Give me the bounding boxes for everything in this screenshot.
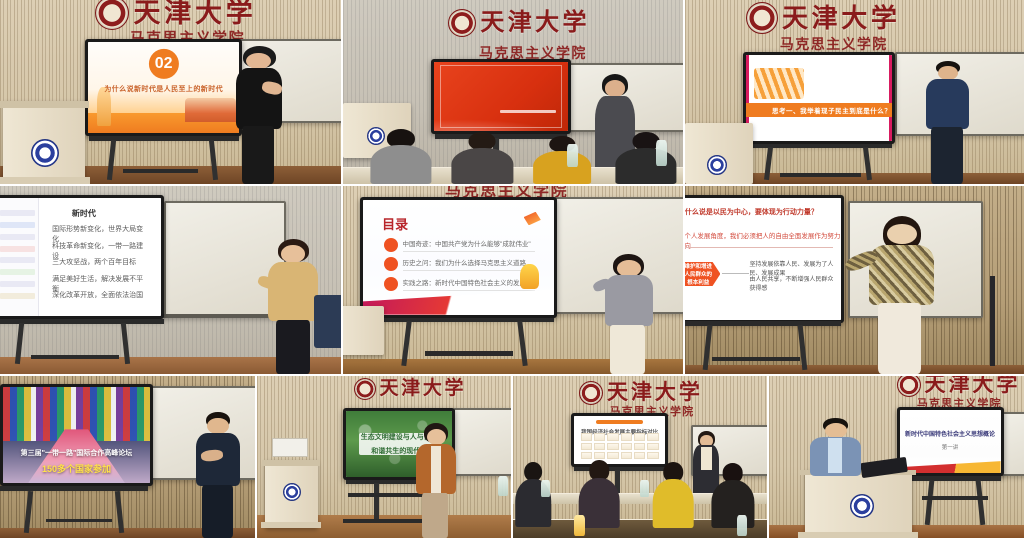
slide-caption: 为什么说新时代是人民至上的新时代 [88,84,239,94]
water-bottle [541,480,550,498]
university-name: 天津大学 [133,0,256,27]
slide-question: 为什么说是以民为中心，要体现为行动力量？ [685,207,818,217]
slide-band: 思考一、我举着现子民主到底是什么？ [746,103,893,118]
presenter-blouse [701,447,712,470]
collage-panel-8[interactable]: 天津大学 生态文明建设与人与自然 和谐共生的现代化 [257,376,511,538]
slide-toc-label: 实践之路：新时代中国特色社会主义的发展 [403,277,536,291]
presenter-torso [869,245,934,305]
slide-artwork [754,68,804,99]
presenter-4 [266,239,321,374]
display-leg [374,483,379,522]
school-name: 马克思主义学院 [780,37,888,51]
slide-side-table [0,198,39,316]
presenter-scarf [431,446,441,497]
slide-edge-right [889,55,893,141]
audience-member [615,132,676,184]
slide-section-number: 02 [149,48,179,78]
display-screen-1[interactable]: 02 为什么说新时代是人民至上的新时代 [85,39,242,137]
slide-toc-item-2: 历史之问：我们为什么选择马克思主义道路 [384,257,535,271]
presenter-legs [242,126,275,184]
slide-kite-graphic [524,212,541,226]
display-tray [922,496,988,500]
presenter-8 [414,423,457,538]
audience-shoulders [711,480,754,528]
display-base [343,519,424,524]
podium [265,460,318,528]
slide-subtitle: 第一讲 [900,443,1001,451]
water-bottle [498,476,508,495]
slide-subtitle: 150多个国家参加 [3,462,150,475]
slide-toc-item-1: 中国奇迹：中国共产党为什么能够"成就伟业" [384,238,535,252]
presenter-legs [878,303,921,374]
podium [805,470,912,538]
university-crest-icon [448,9,476,37]
display-tray [780,173,861,177]
presenter-head [427,429,446,445]
audience-shoulders [452,148,513,184]
bullet-icon [384,277,398,291]
university-name: 天津大学 [782,5,901,31]
water-bottle [640,480,649,498]
display-tray [348,493,424,497]
presenter-torso [268,262,318,322]
slide-divider [685,247,833,248]
audience-member [370,129,431,184]
presenter-3 [922,61,973,184]
collage-panel-10[interactable]: 天津大学 马克思主义学院 新时代中国特色社会主义思想概论 第一讲 [769,376,1024,538]
university-name: 天津大学 [925,376,1021,395]
slide-line-3: 三大攻坚战，两个百年目标 [52,257,144,267]
audience-member [452,132,513,184]
university-branding: 天津大学 [95,0,256,30]
presenter-1 [232,46,287,184]
university-branding: 天津大学 [897,376,1021,397]
slide-photo-banner: 第三届"一带一路"国际合作高峰论坛 150多个国家参加 [3,387,150,483]
university-branding: 天津大学 [746,2,901,34]
display-screen-4[interactable]: 新时代 国际形势新变化，世界大局变化 科技革命新变化，一带一路建设 三大攻坚战，… [0,195,164,319]
audience-member [579,460,620,528]
presenter-7 [194,412,242,538]
slide-toc-label: 中国奇迹：中国共产党为什么能够"成就伟业" [403,238,536,252]
university-crest-icon [95,0,129,30]
slide-heading: 新时代 [72,208,96,219]
presenter-5 [601,254,655,374]
slide-quote-lines [442,76,559,87]
audience-shoulders [653,479,694,528]
display-stand-bar [0,319,164,324]
slide-connector-line [722,273,749,274]
university-crest-icon [579,381,603,405]
slide-toc-item-3: 实践之路：新时代中国特色社会主义的发展 [384,277,535,291]
display-tray [46,519,112,523]
display-screen-6[interactable]: 为什么说是以民为中心，要体现为行动力量？ 从个人发展角度，我们必须把人的自由全面… [685,195,844,323]
presenter-shirt [828,438,842,473]
slide-callout-tag: 维护和增进人民群众的根本利益 [685,262,720,286]
university-crest-icon [354,378,376,400]
presenter-head [207,418,228,434]
display-stand-bar [0,486,148,491]
presenter-torso [605,275,653,326]
slide-question-text: 思考一、我举着现子民主到底是什么？ [772,105,891,115]
display-screen-5[interactable]: 目录 中国奇迹：中国共产党为什么能够"成就伟业" 历史之问：我们为什么选择马克思… [360,197,557,317]
display-stand-bar [363,318,553,323]
presenter-10 [810,418,861,476]
water-bottle [567,144,577,168]
speaker-stand [990,276,995,366]
slide-toc-label: 历史之问：我们为什么选择马克思主义道路 [403,257,536,271]
university-crest-icon [897,376,921,397]
podium-seal-icon [707,155,727,175]
collage-panel-9[interactable]: 天津大学 马克思主义学院 我国经济社会发展主要指标对比 [513,376,767,538]
university-branding: 天津大学 [354,378,467,400]
university-name: 天津大学 [380,379,467,398]
presenter-torso [236,68,282,129]
display-tray [425,351,513,355]
collage-panel-3[interactable]: 天津大学 马克思主义学院 思考一、我举着现子民主到底是什么？ [685,0,1024,184]
collage-panel-7[interactable]: 第三届"一带一路"国际合作高峰论坛 150多个国家参加 [0,376,255,538]
presenter-head [938,66,958,81]
podium-base [0,177,90,184]
collage-panel-5[interactable]: 马克思主义学院 目录 中国奇迹：中国共产党为什么能够"成就伟业" 历史之问：我们… [343,186,683,374]
presenter-6 [868,216,936,374]
display-screen-9[interactable]: 我国经济社会发展主要指标对比 [571,413,668,466]
slide-wave [363,287,554,314]
display-screen-2[interactable] [431,59,570,134]
slide-text-list: 新时代 国际形势新变化，世界大局变化 科技革命新变化，一带一路建设 三大攻坚战，… [0,198,161,316]
bullet-icon [384,238,398,252]
display-tray [31,355,120,359]
whiteboard [453,408,511,476]
presenter-legs [422,493,448,538]
audience-shoulders [533,151,591,184]
podium-base [798,532,918,538]
podium-seal-icon [850,494,874,518]
presenter-head [825,423,846,438]
collage-panel-6[interactable]: 为什么说是以民为中心，要体现为行动力量？ 从个人发展角度，我们必须把人的自由全面… [685,186,1024,374]
podium [685,123,753,184]
slide-body-text-2: 由人民共享，不断增强人民群众获得感 [749,274,834,292]
slide-title-slide: 新时代中国特色社会主义思想概论 第一讲 [900,410,1001,474]
podium-top [262,460,320,465]
slide-table-grid [581,433,659,459]
bullet-icon [384,257,398,271]
presenter-legs [610,325,645,374]
slide-banner-question: 思考一、我举着现子民主到底是什么？ [746,55,893,141]
university-branding: 天津大学 [448,9,589,37]
collage-panel-4[interactable]: 新时代 国际形势新变化，世界大局变化 科技革命新变化，一带一路建设 三大攻坚战，… [0,186,341,374]
audience-shoulders [615,148,676,184]
water-bottle [737,515,747,536]
podium-top [0,101,88,108]
podium-seal-icon [283,483,301,501]
photo-collage: 天津大学 马克思主义学院 02 为什么说新时代是人民至上的新时代 [0,0,1024,538]
presenter-head [617,260,641,277]
display-tray [123,169,198,173]
audience-member [711,463,754,528]
display-tray [712,357,800,361]
audience-member [533,136,591,184]
slide-table-of-contents: 目录 中国奇迹：中国共产党为什么能够"成就伟业" 历史之问：我们为什么选择马克思… [363,200,554,314]
audience-shoulders [579,478,620,528]
podium-seal-icon [31,139,59,167]
display-screen-3[interactable]: 思考一、我举着现子民主到底是什么？ [743,52,896,144]
slide-title: 新时代中国特色社会主义思想概论 [900,429,1001,438]
presenter-legs [202,485,233,538]
collage-panel-1[interactable]: 天津大学 马克思主义学院 02 为什么说新时代是人民至上的新时代 [0,0,341,184]
slide-lion-graphic [520,264,539,289]
presenter-legs [931,127,963,184]
display-screen-7[interactable]: 第三届"一带一路"国际合作高峰论坛 150多个国家参加 [0,384,153,486]
podium-base [261,522,321,528]
presenter-legs [276,320,310,374]
drink-bottle [574,515,585,536]
slide-section-divider: 02 为什么说新时代是人民至上的新时代 [88,42,239,134]
university-name: 天津大学 [607,382,703,403]
water-bottle [656,140,667,166]
floor [685,365,1024,374]
collage-panel-2[interactable]: 天津大学 马克思主义学院 [343,0,683,184]
presenter-head [605,80,626,97]
display-stand-bar [899,476,1001,480]
slide-title: 目录 [382,214,408,233]
podium [343,306,384,355]
university-crest-icon [746,2,778,34]
slide-building-graphic [185,98,236,122]
podium [3,101,85,184]
audience-shoulders [370,145,431,184]
slide-data-table: 我国经济社会发展主要指标对比 [574,416,665,463]
audience-member [653,462,694,528]
display-screen-10[interactable]: 新时代中国特色社会主义思想概论 第一讲 [897,407,1004,477]
slide-swoosh [434,113,567,131]
paper-stack [272,438,308,457]
slide-line-5: 深化改革开放，全面依法治国 [52,290,144,300]
slide-flow-diagram: 为什么说是以民为中心，要体现为行动力量？ 从个人发展角度，我们必须把人的自由全面… [685,198,841,320]
school-name: 马克思主义学院 [479,46,587,60]
university-name: 天津大学 [480,11,589,35]
university-branding: 天津大学 [579,381,703,405]
presenter-torso [926,79,969,128]
classroom-chair [314,295,341,348]
slide-red-quote [434,62,567,131]
slide-title: 第三届"一带一路"国际合作高峰论坛 [3,448,150,458]
slide-header-band [596,420,643,424]
